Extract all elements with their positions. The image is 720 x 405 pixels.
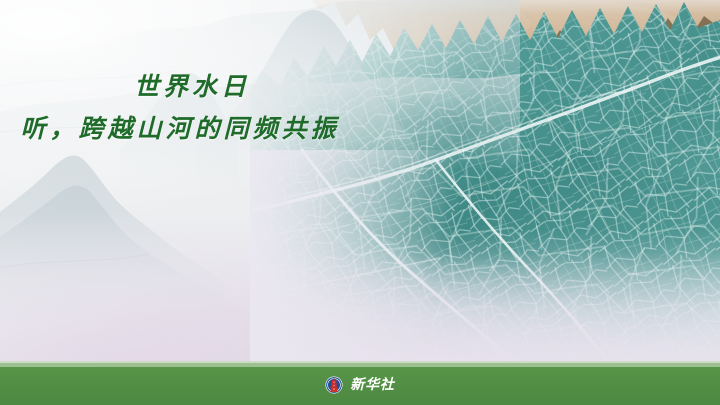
atmosphere-haze bbox=[0, 0, 720, 405]
headline-block: 世界水日 听，跨越山河的同频共振 bbox=[0, 72, 358, 144]
xinhua-logo: 新华社 bbox=[325, 376, 395, 394]
headline-line-2: 听，跨越山河的同频共振 bbox=[2, 114, 358, 144]
headline-line-1: 世界水日 bbox=[26, 72, 358, 102]
xinhua-logo-text: 新华社 bbox=[350, 378, 395, 392]
xinhua-pagoda-emblem-icon bbox=[325, 376, 343, 394]
footer-bar: 新华社 bbox=[0, 367, 720, 405]
poster-canvas: 世界水日 听，跨越山河的同频共振 bbox=[0, 0, 720, 405]
